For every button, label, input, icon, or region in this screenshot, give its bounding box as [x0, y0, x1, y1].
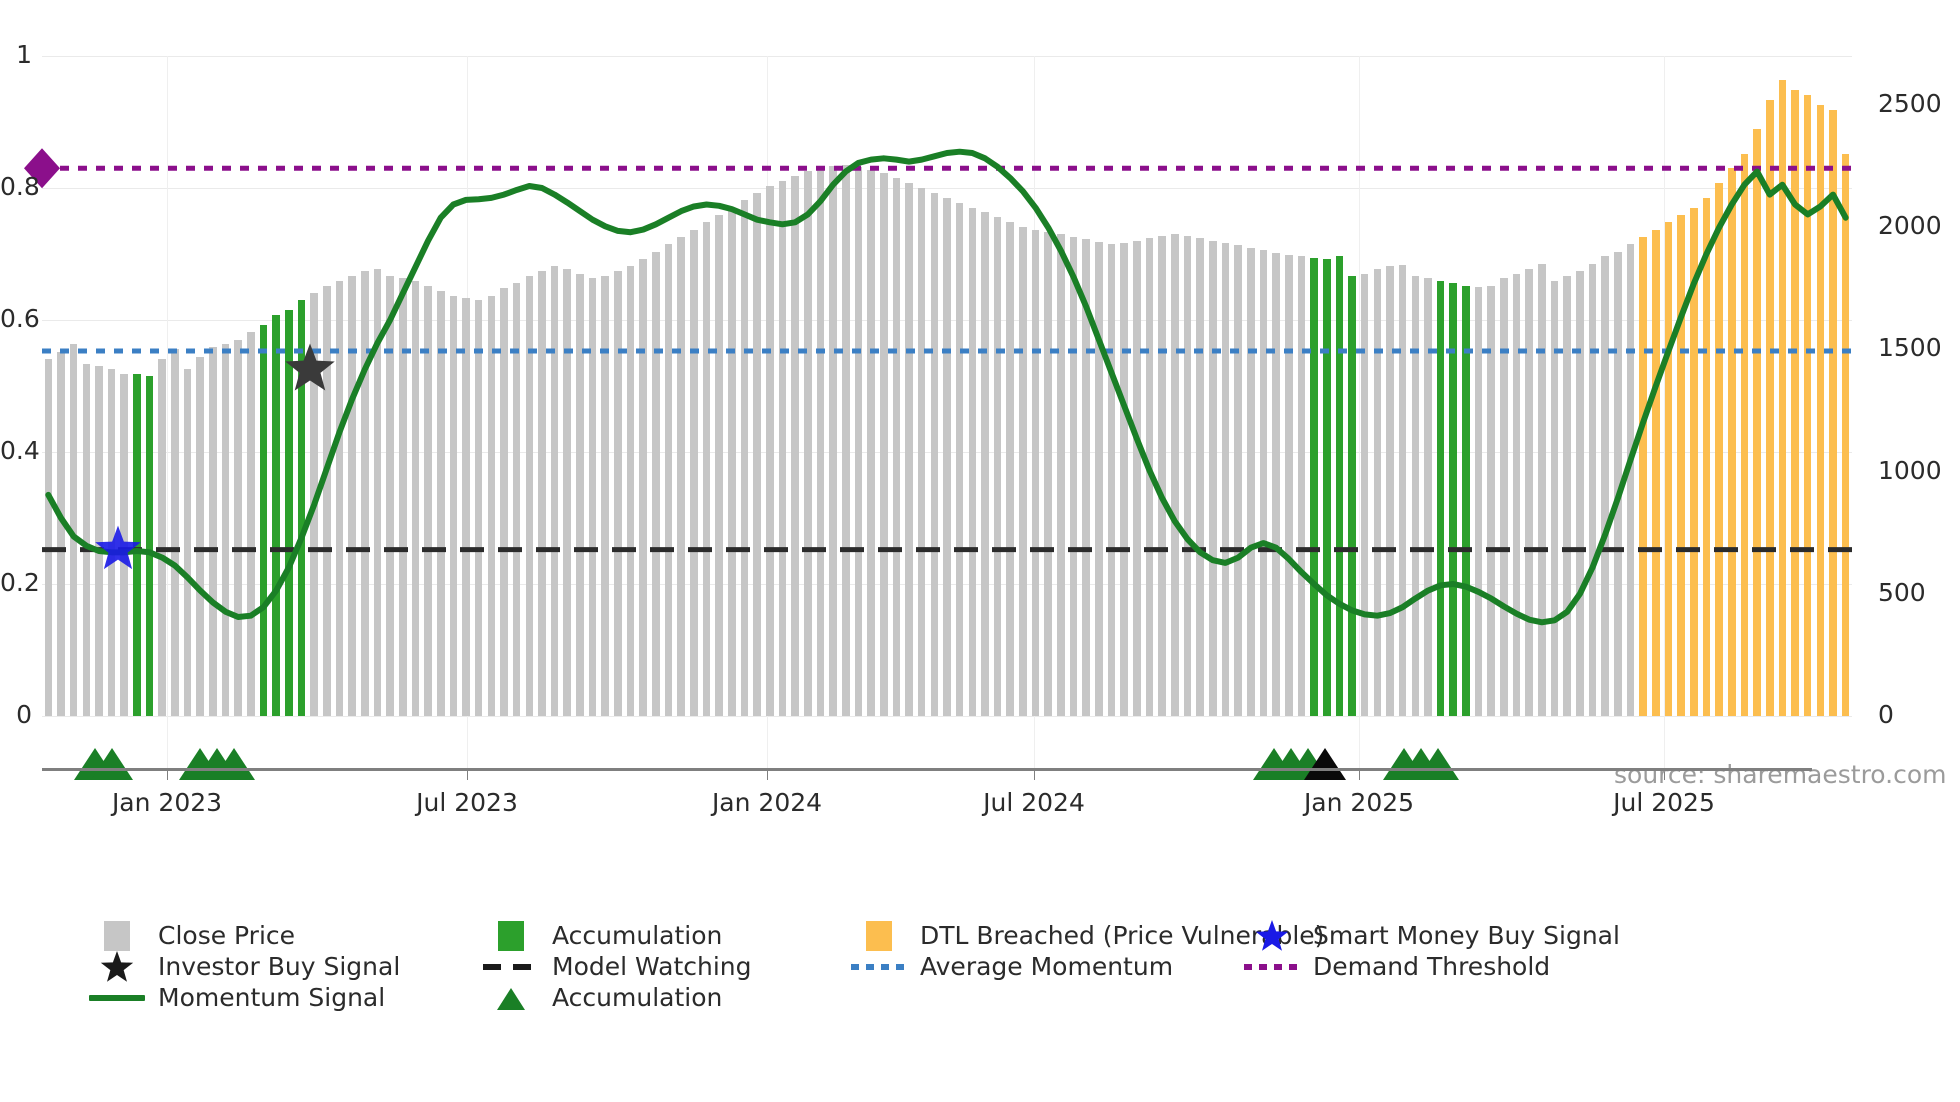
legend-label: Investor Buy Signal: [158, 952, 400, 981]
right-axis-tick-label: 500: [1878, 578, 1926, 607]
legend-triangle: [494, 983, 528, 1013]
x-axis-line: [42, 768, 1812, 771]
legend-label: Smart Money Buy Signal: [1313, 921, 1620, 950]
legend-label: Model Watching: [552, 952, 752, 981]
legend-item[interactable]: Average Momentum: [848, 951, 1173, 982]
legend-item[interactable]: Momentum Signal: [86, 982, 385, 1013]
legend-label: Demand Threshold: [1313, 952, 1550, 981]
triangle-icon-green: [480, 982, 542, 1013]
legend-row: Close PriceAccumulationDTL Breached (Pri…: [86, 920, 1916, 951]
legend-dashed-line: [483, 964, 539, 970]
legend-row: Momentum SignalAccumulation: [86, 982, 1916, 1013]
legend-label: Accumulation: [552, 983, 722, 1012]
right-axis-tick-label: 1000: [1878, 456, 1942, 485]
x-axis-tick-label: Jan 2023: [57, 788, 277, 817]
legend-star: [100, 950, 134, 984]
x-axis-tick-label: Jul 2023: [357, 788, 577, 817]
dashed-line-black: [480, 951, 542, 982]
square-swatch-grey: [86, 920, 148, 951]
x-axis-tick-label: Jul 2024: [924, 788, 1144, 817]
x-axis-tick-label: Jan 2025: [1249, 788, 1469, 817]
legend-swatch: [866, 921, 892, 951]
chart-legend: Close PriceAccumulationDTL Breached (Pri…: [86, 920, 1916, 1013]
legend-swatch: [498, 921, 524, 951]
plot-area: [42, 56, 1852, 716]
star-icon-blue: [1241, 920, 1303, 951]
left-axis-tick-label: 0.8: [0, 172, 32, 201]
x-axis-tick: [467, 771, 468, 780]
legend-dotted-line: [851, 964, 907, 970]
solid-line-green: [86, 982, 148, 1013]
investor-buy-signal-star-icon: [285, 344, 334, 391]
x-axis-tick-label: Jul 2025: [1554, 788, 1774, 817]
legend-item[interactable]: Close Price: [86, 920, 295, 951]
square-swatch-orange: [848, 920, 910, 951]
right-axis-tick-label: 1500: [1878, 333, 1942, 362]
legend-swatch: [104, 921, 130, 951]
left-axis-tick-label: 0.2: [0, 568, 32, 597]
chart-overlay: [42, 56, 1852, 846]
x-axis-tick: [1359, 771, 1360, 780]
right-axis-tick-label: 2500: [1878, 89, 1942, 118]
momentum-price-chart: 00.20.40.60.81 05001000150020002500 Jan …: [0, 0, 1960, 1102]
right-axis-tick-label: 0: [1878, 700, 1894, 729]
plot-inner: [42, 56, 1852, 716]
legend-line: [89, 995, 145, 1001]
legend-item[interactable]: Accumulation: [480, 920, 722, 951]
dotted-line-purple: [1241, 951, 1303, 982]
left-axis-tick-label: 0.4: [0, 436, 32, 465]
legend-label: Momentum Signal: [158, 983, 385, 1012]
x-axis-tick: [767, 771, 768, 780]
source-note: source: sharemaestro.com: [1614, 760, 1947, 789]
left-axis-tick-label: 1: [0, 40, 32, 69]
left-axis-tick-label: 0.6: [0, 304, 32, 333]
dotted-line-blue: [848, 951, 910, 982]
left-axis-tick-label: 0: [0, 700, 32, 729]
legend-item[interactable]: Demand Threshold: [1241, 951, 1550, 982]
x-axis-tick: [1034, 771, 1035, 780]
x-axis-tick-label: Jan 2024: [657, 788, 877, 817]
legend-row: Investor Buy SignalModel WatchingAverage…: [86, 951, 1916, 982]
legend-label: Accumulation: [552, 921, 722, 950]
smart-money-buy-signal-star-icon: [95, 526, 141, 569]
legend-item[interactable]: Investor Buy Signal: [86, 951, 400, 982]
star-icon-black: [86, 951, 148, 982]
right-axis-tick-label: 2000: [1878, 211, 1942, 240]
legend-label: Close Price: [158, 921, 295, 950]
x-axis-tick: [167, 771, 168, 780]
square-swatch-green: [480, 920, 542, 951]
legend-item[interactable]: Accumulation: [480, 982, 722, 1013]
legend-label: Average Momentum: [920, 952, 1173, 981]
legend-dotted-line: [1244, 964, 1300, 970]
legend-item[interactable]: Model Watching: [480, 951, 752, 982]
legend-item[interactable]: Smart Money Buy Signal: [1241, 920, 1620, 951]
legend-star: [1255, 919, 1289, 953]
